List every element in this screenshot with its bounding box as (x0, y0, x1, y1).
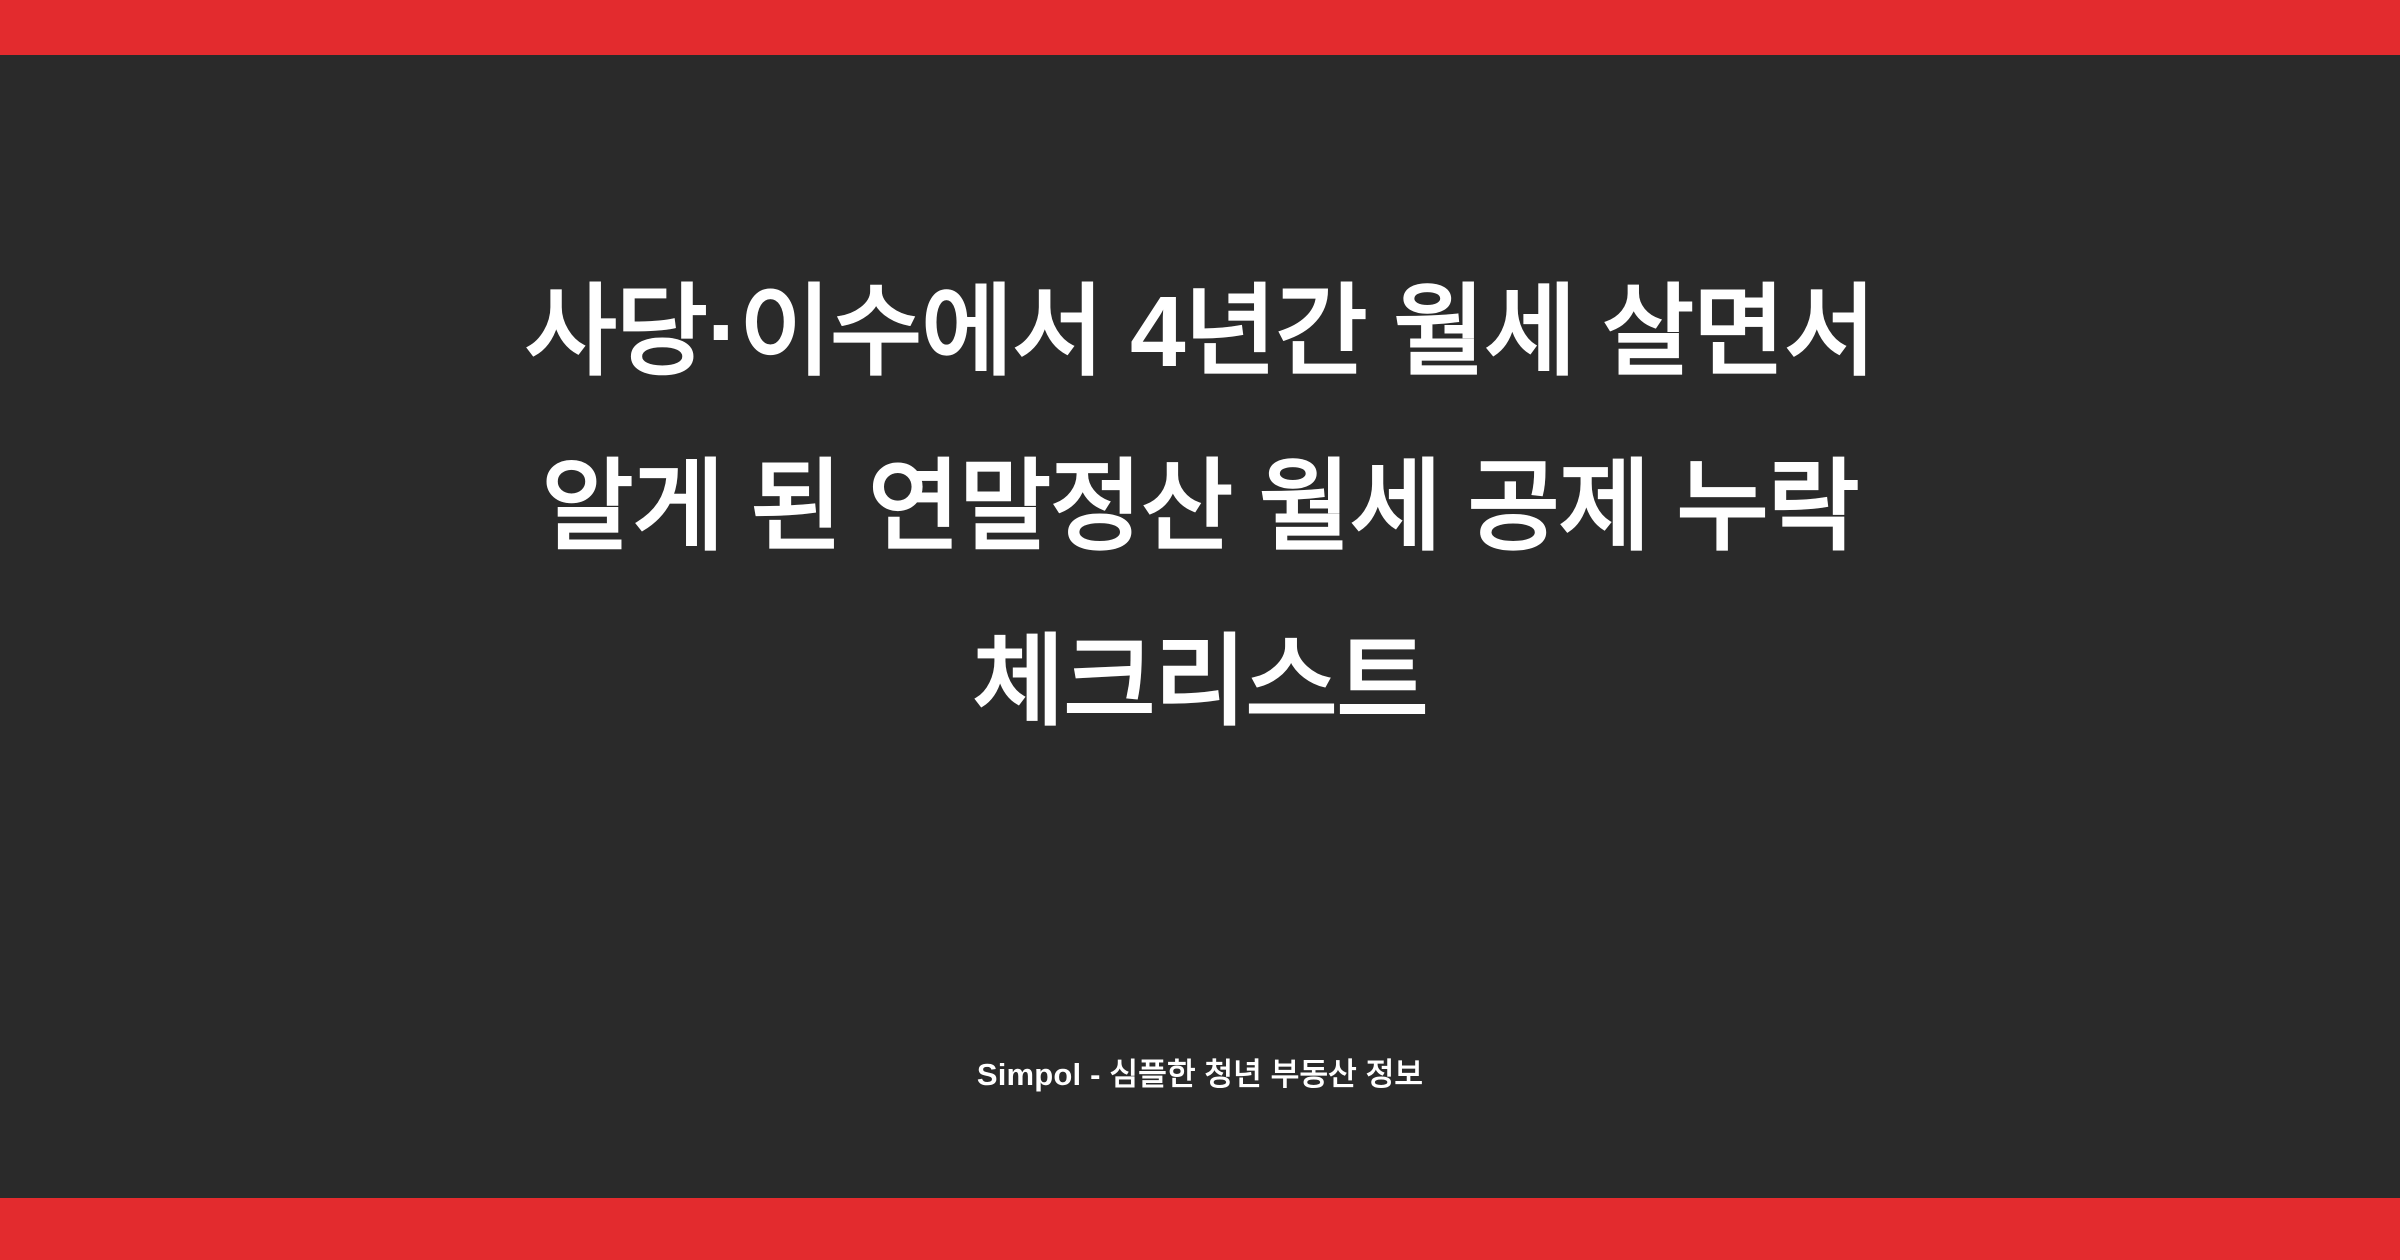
top-accent-bar (0, 0, 2400, 55)
card-body: 사당·이수에서 4년간 월세 살면서 알게 된 연말정산 월세 공제 누락 체크… (0, 55, 2400, 1198)
brand-byline: Simpol - 심플한 청년 부동산 정보 (977, 1055, 1423, 1095)
title-line-3: 체크리스트 (150, 595, 2250, 770)
title-card: 사당·이수에서 4년간 월세 살면서 알게 된 연말정산 월세 공제 누락 체크… (0, 0, 2400, 1260)
title-line-1: 사당·이수에서 4년간 월세 살면서 (150, 245, 2250, 420)
page-title: 사당·이수에서 4년간 월세 살면서 알게 된 연말정산 월세 공제 누락 체크… (0, 245, 2400, 770)
footer: Simpol - 심플한 청년 부동산 정보 (0, 1055, 2400, 1095)
title-line-2: 알게 된 연말정산 월세 공제 누락 (150, 420, 2250, 595)
bottom-accent-bar (0, 1198, 2400, 1260)
